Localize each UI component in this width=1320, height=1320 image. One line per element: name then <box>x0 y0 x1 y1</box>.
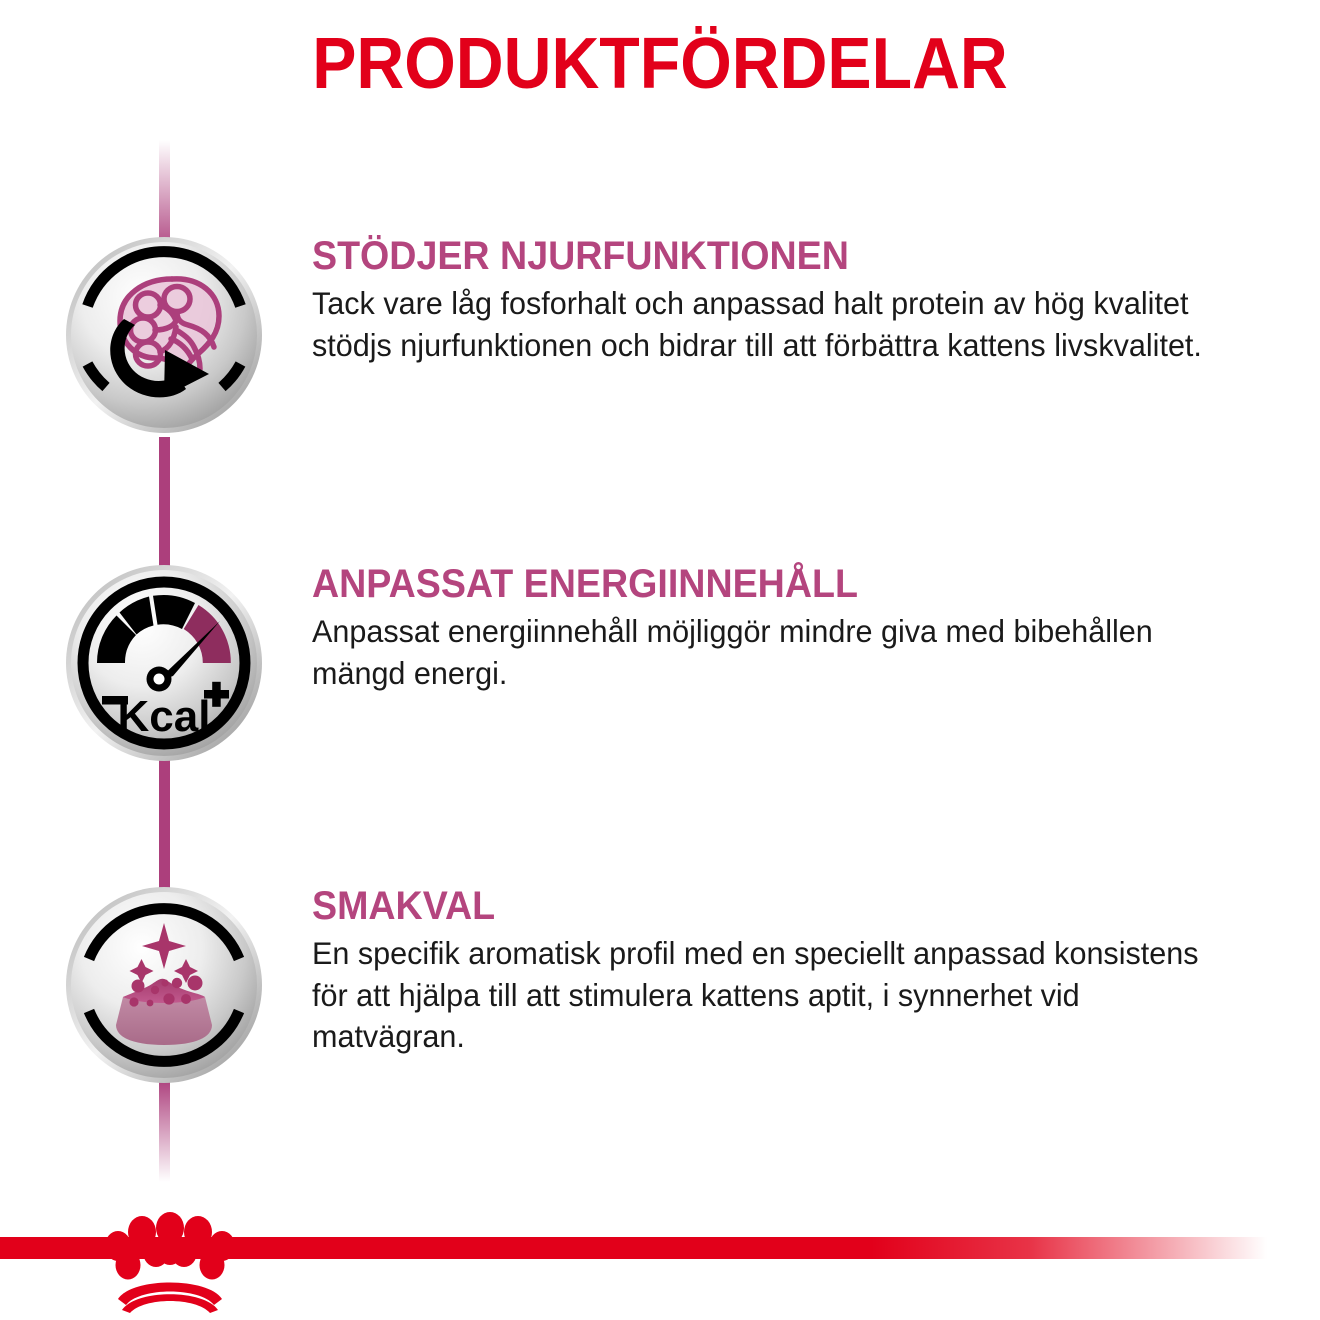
benefit-text-energy: ANPASSAT ENERGIINNEHÅLL Anpassat energii… <box>312 563 1262 694</box>
benefit-text-palatability: SMAKVAL En specifik aromatisk profil med… <box>312 885 1262 1058</box>
page-title: PRODUKTFÖRDELAR <box>53 28 1267 100</box>
benefit-text-kidney: STÖDJER NJURFUNKTIONEN Tack vare låg fos… <box>312 235 1262 366</box>
benefit-item-palatability: SMAKVAL En specifik aromatisk profil med… <box>0 885 1320 1115</box>
benefit-body: Anpassat energiinnehåll möjliggör mindre… <box>312 611 1234 694</box>
benefit-heading: ANPASSAT ENERGIINNEHÅLL <box>312 563 1205 605</box>
kidney-cycle-icon <box>64 235 264 435</box>
benefit-item-energy: Kcal ANPASSAT ENERGIINNEHÅLL Anpassat en… <box>0 563 1320 793</box>
benefit-heading: SMAKVAL <box>312 885 1205 927</box>
royal-canin-crown-logo <box>92 1203 248 1313</box>
kcal-gauge-icon: Kcal <box>64 563 264 763</box>
benefit-heading: STÖDJER NJURFUNKTIONEN <box>312 235 1205 277</box>
benefit-item-kidney: STÖDJER NJURFUNKTIONEN Tack vare låg fos… <box>0 235 1320 465</box>
food-bowl-aroma-icon <box>64 885 264 1085</box>
benefit-body: Tack vare låg fosforhalt och anpassad ha… <box>312 283 1234 366</box>
benefit-body: En specifik aromatisk profil med en spec… <box>312 933 1234 1058</box>
kcal-label: Kcal <box>118 692 211 741</box>
